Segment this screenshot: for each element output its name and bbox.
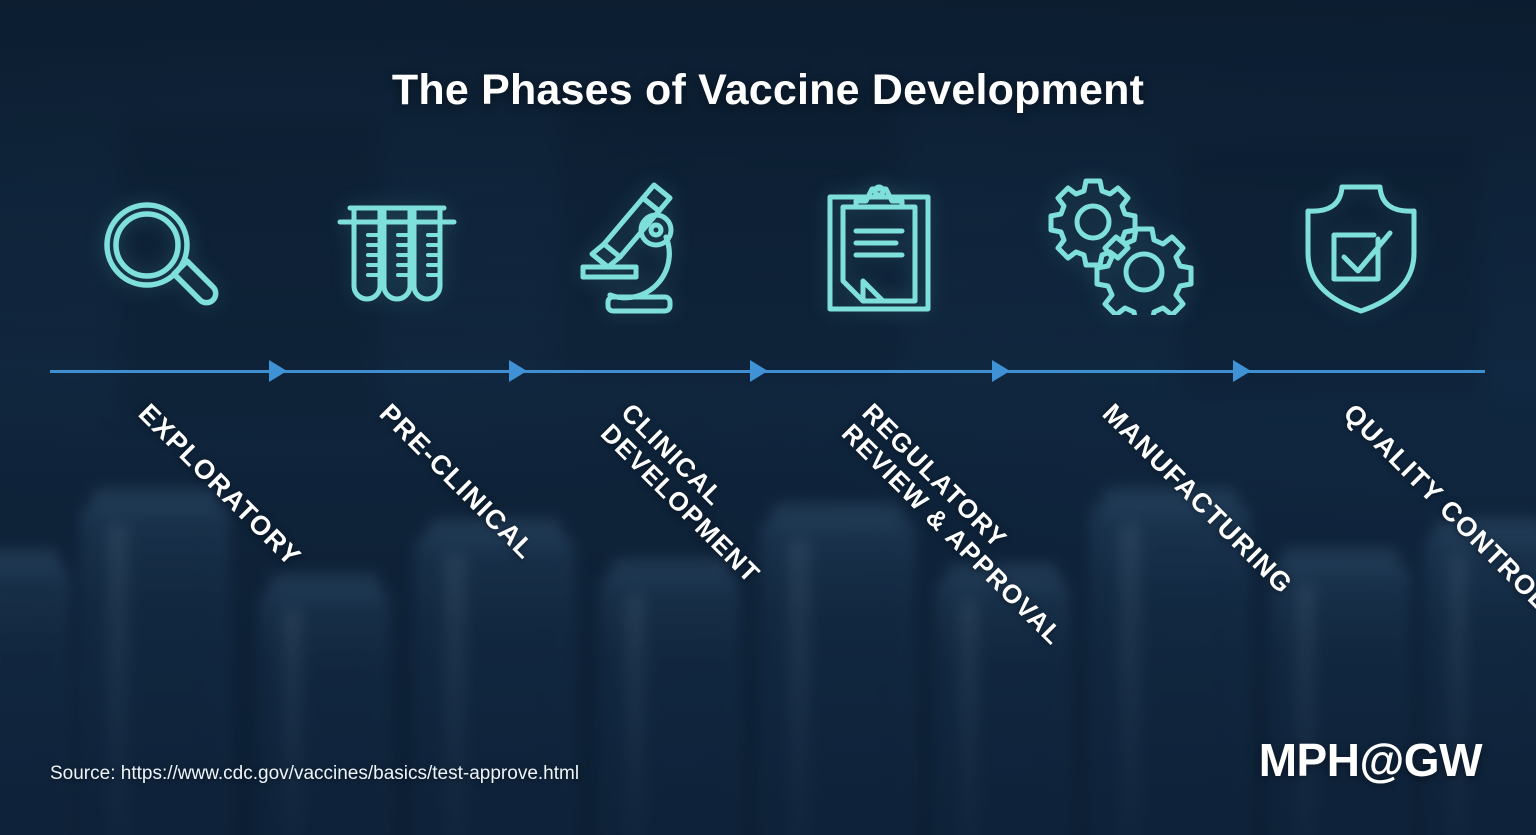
timeline-arrow-2: [509, 360, 527, 382]
timeline-arrow-4: [992, 360, 1010, 382]
phase-exploratory: EXPLORATORY: [48, 0, 263, 835]
microscope-icon: [530, 165, 745, 315]
shield-check-icon: [1253, 165, 1468, 315]
gears-icon: [1012, 165, 1227, 315]
clipboard-icon: [771, 165, 986, 315]
brand-logo: MPH@GW: [1259, 733, 1482, 787]
phase-clinical-development: CLINICAL DEVELOPMENT: [530, 0, 745, 835]
timeline-arrow-1: [269, 360, 287, 382]
timeline-arrow-3: [750, 360, 768, 382]
infographic-canvas: The Phases of Vaccine Development EXPLOR…: [0, 0, 1536, 835]
timeline-arrow-5: [1233, 360, 1251, 382]
phase-pre-clinical: PRE-CLINICAL: [289, 0, 504, 835]
phase-manufacturing: MANUFACTURING: [1012, 0, 1227, 835]
test-tubes-icon: [289, 165, 504, 315]
phase-quality-control: QUALITY CONTROL: [1253, 0, 1468, 835]
phase-regulatory-review: REGULATORY REVIEW & APPROVAL: [771, 0, 986, 835]
source-citation: Source: https://www.cdc.gov/vaccines/bas…: [50, 763, 579, 785]
magnifying-glass-icon: [48, 165, 263, 315]
